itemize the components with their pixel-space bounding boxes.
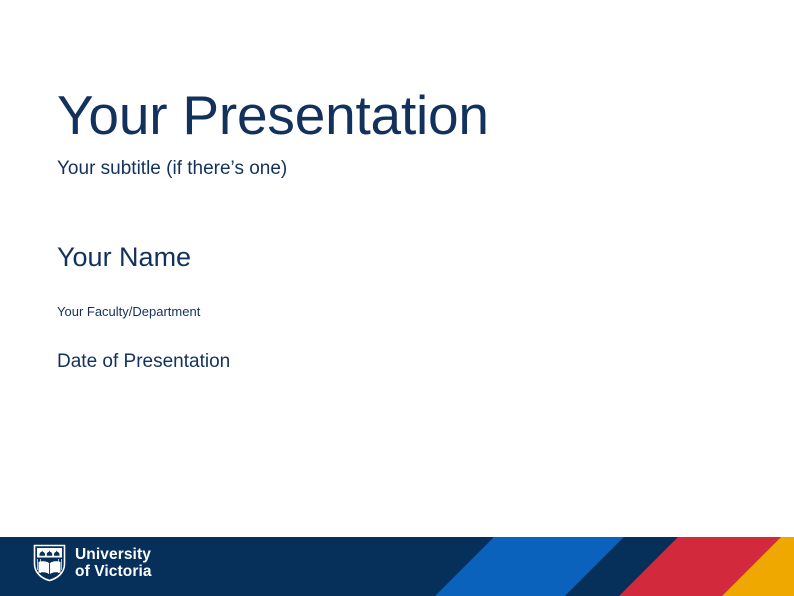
wordmark-line-1: University: [75, 546, 152, 563]
uvic-logo: University of Victoria: [33, 544, 152, 582]
presenter-department: Your Faculty/Department: [57, 305, 747, 320]
slide-footer: University of Victoria: [0, 537, 794, 596]
presentation-title-slide: Your Presentation Your subtitle (if ther…: [0, 0, 794, 596]
page-title: Your Presentation: [57, 88, 747, 143]
title-text-block: Your Presentation Your subtitle (if ther…: [57, 88, 747, 373]
wordmark-line-2: of Victoria: [75, 563, 152, 580]
slide-subtitle: Your subtitle (if there’s one): [57, 158, 747, 180]
uvic-wordmark: University of Victoria: [75, 546, 152, 581]
presentation-date: Date of Presentation: [57, 351, 747, 373]
uvic-shield-crest-icon: [33, 544, 66, 582]
presenter-name: Your Name: [57, 243, 747, 273]
